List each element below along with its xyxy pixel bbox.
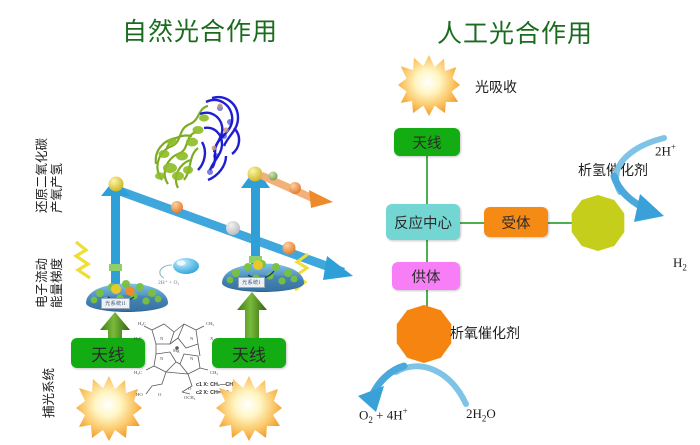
water-split-products-label: 2H⁺ + O₂ <box>158 280 179 286</box>
artificial-antenna-box[interactable]: 天线 <box>394 128 460 156</box>
svg-text:X: X <box>210 336 214 341</box>
natural-antenna-box-right[interactable]: 天线 <box>212 338 286 368</box>
svg-text:H₃C: H₃C <box>134 336 142 341</box>
artificial-sun-icon <box>398 54 460 116</box>
side-label-products-line2: 还原二氧化碳 <box>31 138 50 213</box>
side-label-energy-line2: 电子流动 <box>31 258 50 308</box>
natural-antenna-label-right: 天线 <box>232 341 266 366</box>
donor-label: 供体 <box>412 266 441 287</box>
artificial-photosynthesis-title: 人工光合作用 <box>437 14 593 50</box>
side-label-antenna-system-line1: 捕光系统 <box>38 368 57 418</box>
light-absorption-label: 光吸收 <box>475 77 517 97</box>
natural-photosynthesis-title: 自然光合作用 <box>122 12 278 48</box>
acceptor-box[interactable]: 受体 <box>484 207 548 237</box>
artificial-antenna-label: 天线 <box>413 132 442 153</box>
connector-antenna-to-reaction-center <box>426 156 428 206</box>
connector-reaction-center-to-acceptor <box>460 222 484 224</box>
sun-left-icon <box>76 375 142 441</box>
svg-text:H₃C: H₃C <box>138 321 146 326</box>
proton-input-label: 2H+ <box>655 142 676 159</box>
oxygen-evolution-catalyst-label: 析氧催化剂 <box>450 323 520 343</box>
svg-text:Mg: Mg <box>173 348 180 353</box>
acceptor-label: 受体 <box>502 212 531 233</box>
svg-text:N: N <box>160 336 164 341</box>
donor-box[interactable]: 供体 <box>392 262 460 290</box>
svg-text:CH₃: CH₃ <box>206 321 214 326</box>
hydrogen-output-label: H2 <box>673 255 687 273</box>
svg-text:OCH₃: OCH₃ <box>184 395 196 400</box>
antenna-energy-arrow-right-icon <box>235 292 269 338</box>
sun-right-icon <box>216 375 282 441</box>
photosystem-ii-tag: 光系统II <box>101 298 130 309</box>
reaction-center-label: 反应中心 <box>394 212 452 233</box>
connector-acceptor-to-hydrogen-catalyst <box>546 222 572 224</box>
natural-antenna-label-left: 天线 <box>91 341 125 366</box>
svg-text:N: N <box>160 356 164 361</box>
hydrogen-flow-arrow-icon <box>598 132 694 242</box>
svg-text:O: O <box>158 392 162 397</box>
svg-text:N: N <box>190 336 194 341</box>
svg-text:N: N <box>190 356 194 361</box>
water-input-label: 2H2O <box>466 406 496 424</box>
oxygen-output-label: O2 + 4H+ <box>359 406 408 425</box>
reaction-center-box[interactable]: 反应中心 <box>386 204 460 240</box>
photosystem-i-tag: 光系统I <box>238 277 265 288</box>
figure-canvas: 自然光合作用 人工光合作用 产氧产氢 还原二氧化碳 能量梯度 电子流动 捕光系统 <box>0 0 700 445</box>
